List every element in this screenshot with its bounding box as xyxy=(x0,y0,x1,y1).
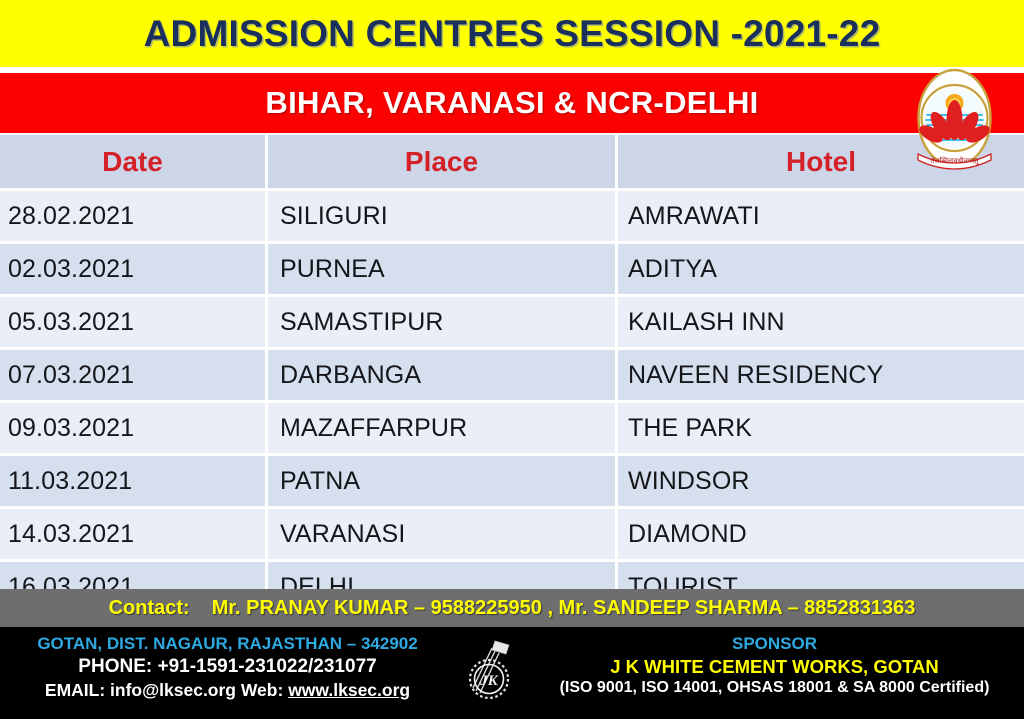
cell-place-text: SILIGURI xyxy=(280,202,388,231)
cell-hotel: THE PARK xyxy=(618,403,1024,453)
cell-date: 05.03.2021 xyxy=(0,297,265,347)
cell-place-text: PATNA xyxy=(280,467,360,496)
sponsor-label: SPONSOR xyxy=(525,633,1024,655)
cell-place: SILIGURI xyxy=(268,191,615,241)
lotus-emblem-logo: तेजस्विनावधीतमस्तु xyxy=(908,68,1001,174)
cell-date: 09.03.2021 xyxy=(0,403,265,453)
cell-date-text: 28.02.2021 xyxy=(8,202,134,231)
footer-sponsor-block: SPONSOR J K WHITE CEMENT WORKS, GOTAN (I… xyxy=(525,627,1024,699)
cell-hotel-text: NAVEEN RESIDENCY xyxy=(628,361,883,390)
svg-text:JK: JK xyxy=(479,673,499,689)
cell-hotel-text: WINDSOR xyxy=(628,467,750,496)
jk-cement-gear-logo: JK xyxy=(462,635,518,707)
cell-date: 28.02.2021 xyxy=(0,191,265,241)
cell-place: DARBANGA xyxy=(268,350,615,400)
title-banner: ADMISSION CENTRES SESSION -2021-22 xyxy=(0,0,1024,67)
table-row: 09.03.2021 MAZAFFARPUR THE PARK xyxy=(0,403,1024,453)
emblem-caption: तेजस्विनावधीतमस्तु xyxy=(930,156,979,165)
footer: GOTAN, DIST. NAGAUR, RAJASTHAN – 342902 … xyxy=(0,627,1024,719)
table-row: 11.03.2021 PATNA WINDSOR xyxy=(0,456,1024,506)
cell-hotel: DIAMOND xyxy=(618,509,1024,559)
table-row: 02.03.2021 PURNEA ADITYA xyxy=(0,244,1024,294)
column-header-date-label: Date xyxy=(102,146,163,178)
table-row: 14.03.2021 VARANASI DIAMOND xyxy=(0,509,1024,559)
cell-hotel-text: AMRAWATI xyxy=(628,202,760,231)
table-row: 07.03.2021 DARBANGA NAVEEN RESIDENCY xyxy=(0,350,1024,400)
cell-hotel: ADITYA xyxy=(618,244,1024,294)
column-header-place-label: Place xyxy=(405,146,478,178)
cell-hotel-text: KAILASH INN xyxy=(628,308,785,337)
cell-date-text: 09.03.2021 xyxy=(8,414,134,443)
footer-website-link[interactable]: www.lksec.org xyxy=(288,680,410,700)
contact-label: Contact: xyxy=(109,597,190,620)
sponsor-name: J K WHITE CEMENT WORKS, GOTAN xyxy=(525,655,1024,679)
subtitle-banner: BIHAR, VARANASI & NCR-DELHI xyxy=(0,73,1024,133)
cell-hotel-text: THE PARK xyxy=(628,414,752,443)
cell-date-text: 14.03.2021 xyxy=(8,520,134,549)
cell-place: SAMASTIPUR xyxy=(268,297,615,347)
contact-details: Mr. PRANAY KUMAR – 9588225950 , Mr. SAND… xyxy=(212,597,916,620)
cell-place: MAZAFFARPUR xyxy=(268,403,615,453)
cell-date-text: 07.03.2021 xyxy=(8,361,134,390)
admission-centres-table: Date Place Hotel 28.02.2021 SILIGURI AMR… xyxy=(0,135,1024,588)
column-header-place: Place xyxy=(268,135,615,188)
cell-place-text: MAZAFFARPUR xyxy=(280,414,467,443)
cell-hotel: WINDSOR xyxy=(618,456,1024,506)
cell-date: 07.03.2021 xyxy=(0,350,265,400)
contact-bar: Contact: Mr. PRANAY KUMAR – 9588225950 ,… xyxy=(0,589,1024,627)
subtitle-text: BIHAR, VARANASI & NCR-DELHI xyxy=(265,85,758,121)
cell-place: PURNEA xyxy=(268,244,615,294)
cell-place-text: VARANASI xyxy=(280,520,405,549)
cell-date: 14.03.2021 xyxy=(0,509,265,559)
cell-date-text: 02.03.2021 xyxy=(8,255,134,284)
cell-date: 02.03.2021 xyxy=(0,244,265,294)
column-header-hotel-label: Hotel xyxy=(786,146,856,178)
footer-email-line: EMAIL: info@lksec.org Web: www.lksec.org xyxy=(0,679,455,701)
cell-place-text: SAMASTIPUR xyxy=(280,308,444,337)
table-header-row: Date Place Hotel xyxy=(0,135,1024,188)
footer-address: GOTAN, DIST. NAGAUR, RAJASTHAN – 342902 xyxy=(0,633,455,655)
footer-email-text: EMAIL: info@lksec.org Web: xyxy=(45,680,288,700)
cell-place-text: DARBANGA xyxy=(280,361,421,390)
cell-place: VARANASI xyxy=(268,509,615,559)
sponsor-certifications: (ISO 9001, ISO 14001, OHSAS 18001 & SA 8… xyxy=(525,678,1024,698)
jk-logo-container: JK xyxy=(455,627,525,707)
cell-hotel-text: ADITYA xyxy=(628,255,717,284)
cell-hotel-text: DIAMOND xyxy=(628,520,747,549)
page-title: ADMISSION CENTRES SESSION -2021-22 xyxy=(144,13,881,55)
cell-hotel: KAILASH INN xyxy=(618,297,1024,347)
cell-date-text: 11.03.2021 xyxy=(8,467,132,496)
cell-hotel: NAVEEN RESIDENCY xyxy=(618,350,1024,400)
table-row: 05.03.2021 SAMASTIPUR KAILASH INN xyxy=(0,297,1024,347)
footer-phone: PHONE: +91-1591-231022/231077 xyxy=(0,655,455,679)
cell-date: 11.03.2021 xyxy=(0,456,265,506)
cell-place-text: PURNEA xyxy=(280,255,385,284)
table-row: 28.02.2021 SILIGURI AMRAWATI xyxy=(0,191,1024,241)
cell-place: PATNA xyxy=(268,456,615,506)
cell-hotel: AMRAWATI xyxy=(618,191,1024,241)
column-header-date: Date xyxy=(0,135,265,188)
footer-contact-block: GOTAN, DIST. NAGAUR, RAJASTHAN – 342902 … xyxy=(0,627,455,701)
cell-date-text: 05.03.2021 xyxy=(8,308,134,337)
